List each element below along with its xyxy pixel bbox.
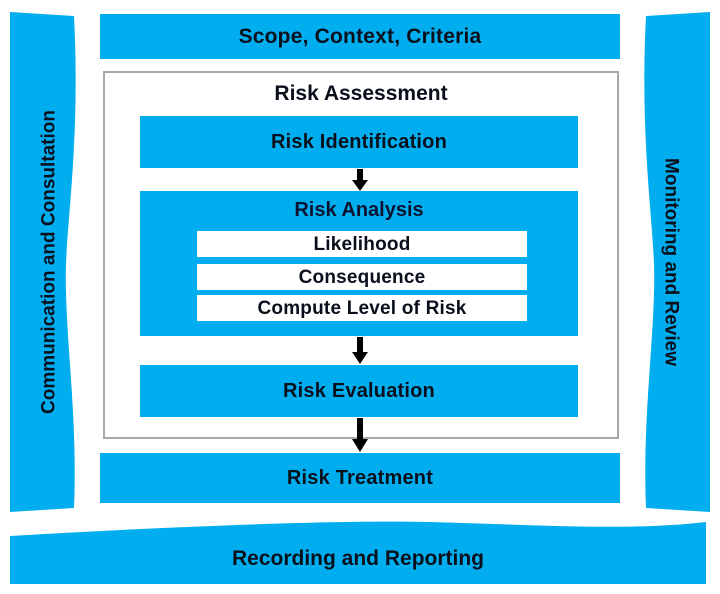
risk-management-process-diagram: Communication and Consultation Monitorin… xyxy=(0,0,720,594)
risk-identification-label: Risk Identification xyxy=(271,132,447,152)
compute-level-of-risk-label: Compute Level of Risk xyxy=(257,299,466,318)
risk-analysis-block[interactable]: Risk Analysis Likelihood Consequence Com… xyxy=(140,191,578,336)
recording-and-reporting-label: Recording and Reporting xyxy=(10,548,706,569)
consequence-label: Consequence xyxy=(299,268,426,287)
side-bar-monitoring-and-review: Monitoring and Review xyxy=(630,12,712,512)
likelihood-label: Likelihood xyxy=(314,235,411,254)
likelihood-box[interactable]: Likelihood xyxy=(197,231,527,257)
risk-analysis-label: Risk Analysis xyxy=(140,200,578,220)
risk-assessment-title: Risk Assessment xyxy=(105,83,617,104)
scope-context-criteria-bar[interactable]: Scope, Context, Criteria xyxy=(100,14,620,59)
risk-treatment-label: Risk Treatment xyxy=(287,468,433,488)
consequence-box[interactable]: Consequence xyxy=(197,264,527,290)
scope-context-criteria-label: Scope, Context, Criteria xyxy=(239,26,482,47)
risk-identification-bar[interactable]: Risk Identification xyxy=(140,116,578,168)
risk-treatment-bar[interactable]: Risk Treatment xyxy=(100,453,620,503)
risk-evaluation-label: Risk Evaluation xyxy=(283,381,435,401)
side-bar-monitoring-label: Monitoring and Review xyxy=(662,158,681,366)
risk-evaluation-bar[interactable]: Risk Evaluation xyxy=(140,365,578,417)
side-bar-communication-and-consultation: Communication and Consultation xyxy=(8,12,90,512)
recording-and-reporting-bar[interactable]: Recording and Reporting xyxy=(10,518,706,588)
compute-level-of-risk-box[interactable]: Compute Level of Risk xyxy=(197,295,527,321)
side-bar-communication-label: Communication and Consultation xyxy=(40,110,59,414)
